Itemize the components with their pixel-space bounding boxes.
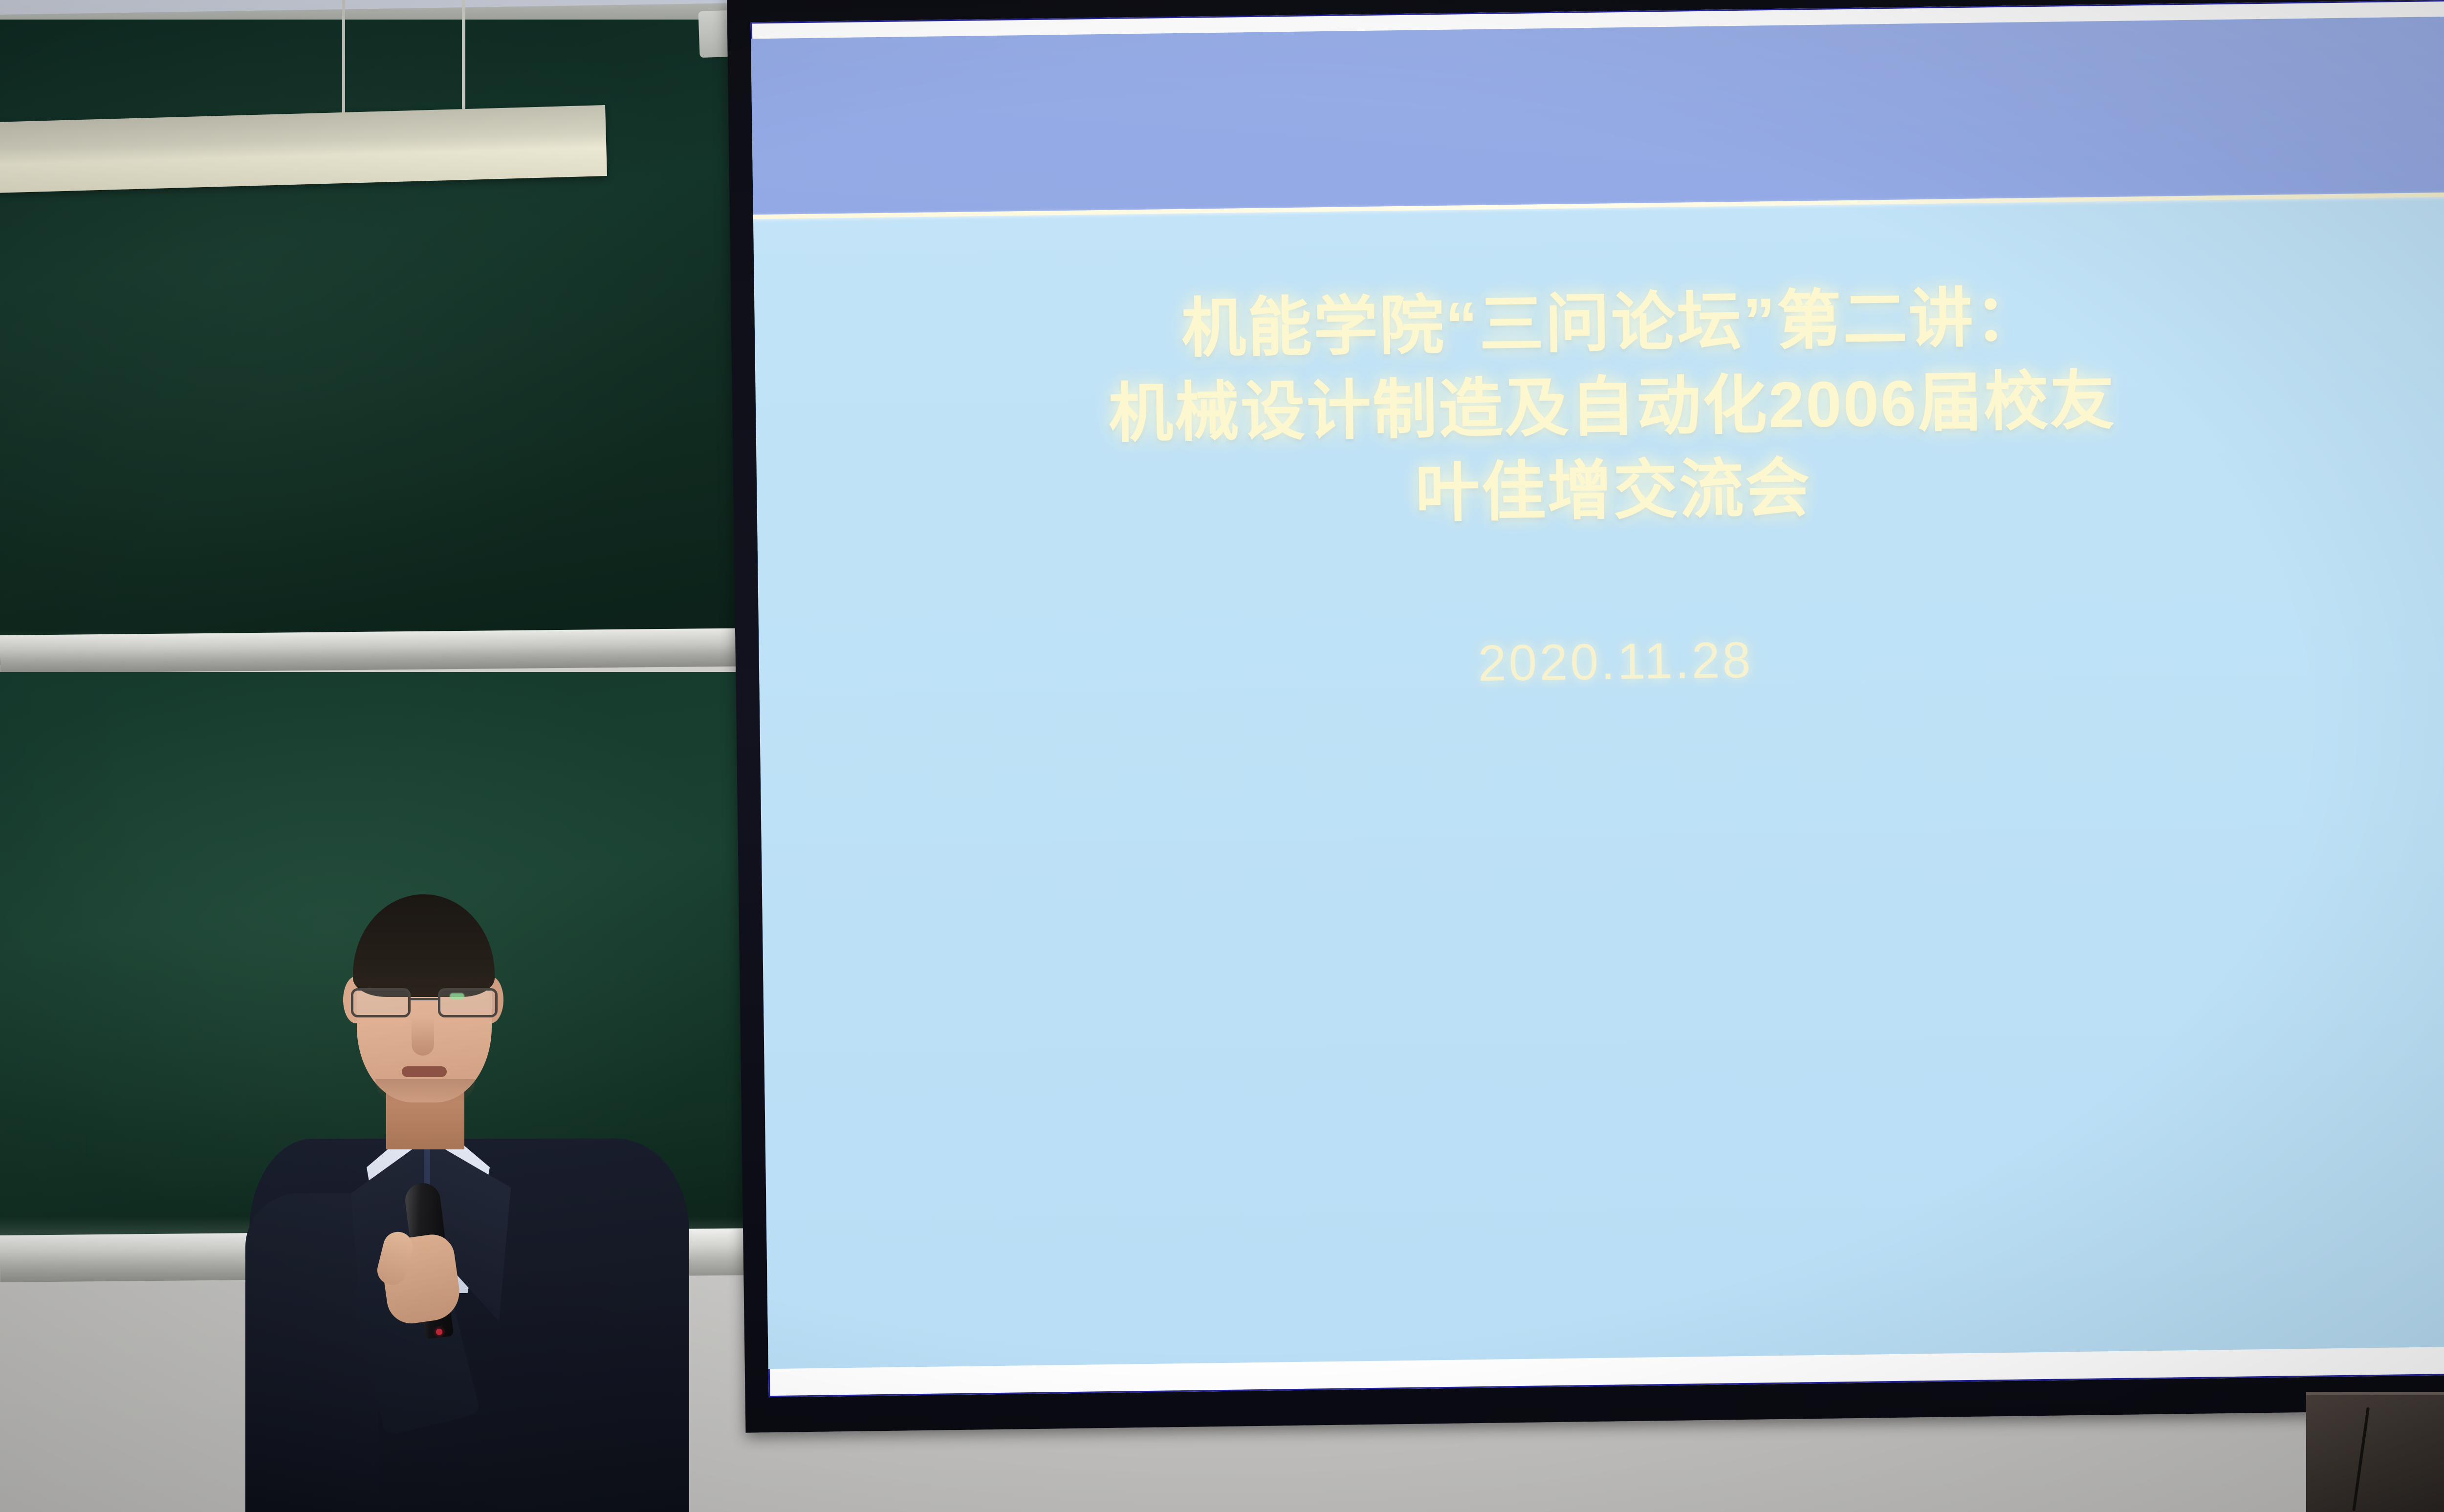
lecture-hall-photo: 机能学院“三问论坛”第二讲： 机械设计制造及自动化2006届校友 叶佳增交流会 … [0,0,2444,1512]
av-equipment [2306,1395,2444,1512]
slide-body: 机能学院“三问论坛”第二讲： 机械设计制造及自动化2006届校友 叶佳增交流会 … [753,196,2444,1369]
slide-date: 2020.11.28 [759,622,2444,702]
projection-screen[interactable]: 机能学院“三问论坛”第二讲： 机械设计制造及自动化2006届校友 叶佳增交流会 … [727,0,2444,1433]
lens-glint [450,993,464,999]
screen-canvas: 机能学院“三问论坛”第二讲： 机械设计制造及自动化2006届校友 叶佳增交流会 … [751,0,2444,1397]
nose [412,1017,434,1056]
eyeglass-lens-right [438,988,498,1017]
slide-title: 机能学院“三问论坛”第二讲： 机械设计制造及自动化2006届校友 叶佳增交流会 [754,270,2444,544]
chin-shading [375,1079,475,1104]
eyeglass-lens-left [351,988,411,1017]
speaker-presenter [220,894,719,1512]
mouth [402,1066,447,1077]
eyeglass-bridge [411,998,438,1000]
presentation-slide: 机能学院“三问论坛”第二讲： 机械设计制造及自动化2006届校友 叶佳增交流会 … [751,16,2444,1369]
lamp-suspension-cord [342,0,345,122]
slide-header-band [751,16,2444,215]
chalkboard-middle-ledge [0,627,792,673]
eyeglasses-icon [346,985,502,1020]
